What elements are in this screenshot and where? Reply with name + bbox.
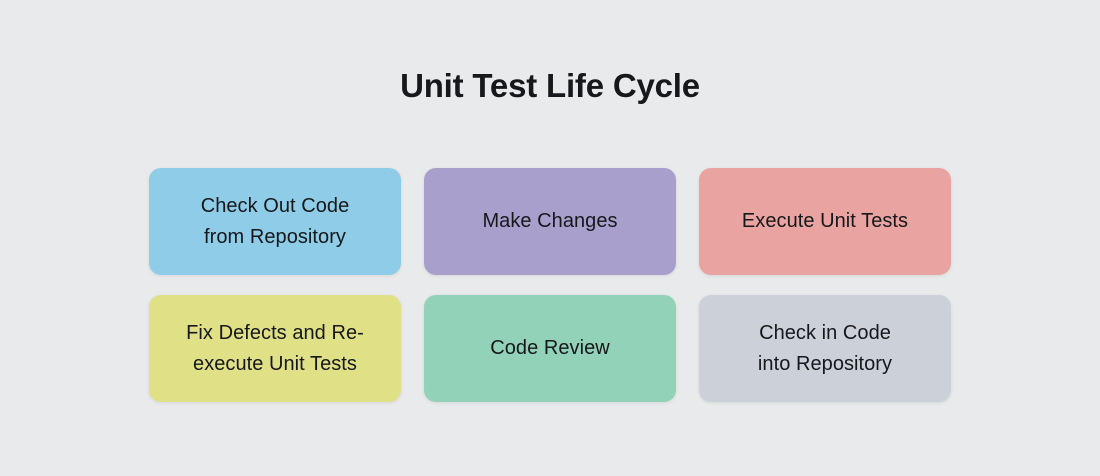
page-title: Unit Test Life Cycle xyxy=(0,66,1100,106)
slide-canvas: Unit Test Life Cycle Check Out Code from… xyxy=(0,0,1100,476)
stage-card-make-changes[interactable]: Make Changes xyxy=(424,168,676,275)
life-cycle-stage-grid: Check Out Code from Repository Make Chan… xyxy=(149,168,951,402)
stage-card-check-in-code[interactable]: Check in Code into Repository xyxy=(699,295,951,402)
stage-card-code-review[interactable]: Code Review xyxy=(424,295,676,402)
stage-card-label: Fix Defects and Re- execute Unit Tests xyxy=(186,318,364,380)
stage-card-label: Check in Code into Repository xyxy=(758,318,892,380)
stage-card-fix-defects[interactable]: Fix Defects and Re- execute Unit Tests xyxy=(149,295,401,402)
stage-card-label: Check Out Code from Repository xyxy=(201,191,350,253)
stage-card-label: Execute Unit Tests xyxy=(742,206,908,237)
stage-card-label: Make Changes xyxy=(482,206,617,237)
stage-card-check-out-code[interactable]: Check Out Code from Repository xyxy=(149,168,401,275)
stage-card-execute-unit-tests[interactable]: Execute Unit Tests xyxy=(699,168,951,275)
stage-card-label: Code Review xyxy=(490,333,610,364)
